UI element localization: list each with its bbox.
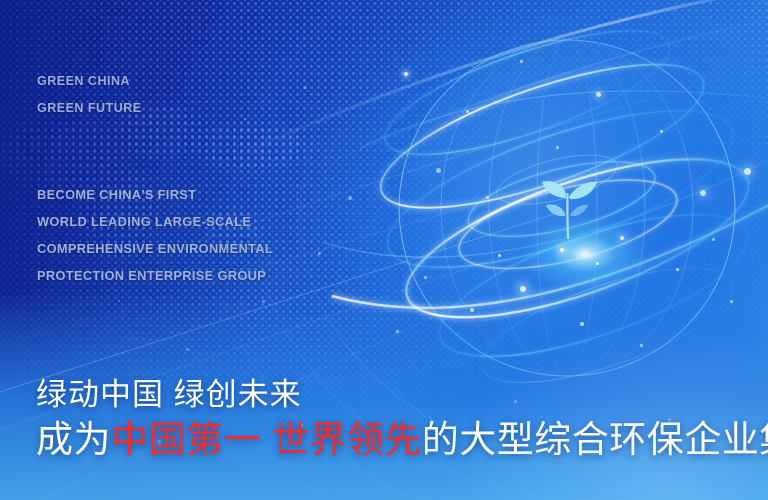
headline-line-2: 成为中国第一 世界领先的大型综合环保企业集团 bbox=[36, 409, 768, 463]
tagline-line-1: BECOME CHINA'S FIRST bbox=[37, 187, 196, 202]
green-sprout-icon bbox=[535, 168, 601, 242]
tagline-line-2: WORLD LEADING LARGE-SCALE bbox=[37, 214, 251, 229]
globe-core-glow bbox=[520, 215, 650, 293]
tagline-line-4: PROTECTION ENTERPRISE GROUP bbox=[37, 268, 266, 283]
globe-orbit-rings bbox=[342, 0, 768, 422]
eyebrow-line-1: GREEN CHINA bbox=[37, 74, 130, 88]
hero-banner: GREEN CHINA GREEN FUTURE BECOME CHINA'S … bbox=[0, 0, 768, 500]
headline-line-1: 绿动中国 绿创未来 bbox=[36, 369, 302, 414]
headline-highlight: 中国第一 世界领先 bbox=[111, 419, 422, 460]
wireframe-globe bbox=[352, 28, 768, 388]
globe-meridians bbox=[399, 40, 735, 376]
tagline-line-3: COMPREHENSIVE ENVIRONMENTAL bbox=[37, 241, 273, 256]
eyebrow-line-2: GREEN FUTURE bbox=[37, 101, 142, 115]
headline-prefix: 成为 bbox=[36, 419, 111, 460]
globe-comet-arcs bbox=[322, 91, 768, 308]
globe-inner-rings bbox=[443, 133, 685, 286]
headline-suffix: 的大型综合环保企业集团 bbox=[422, 419, 768, 460]
